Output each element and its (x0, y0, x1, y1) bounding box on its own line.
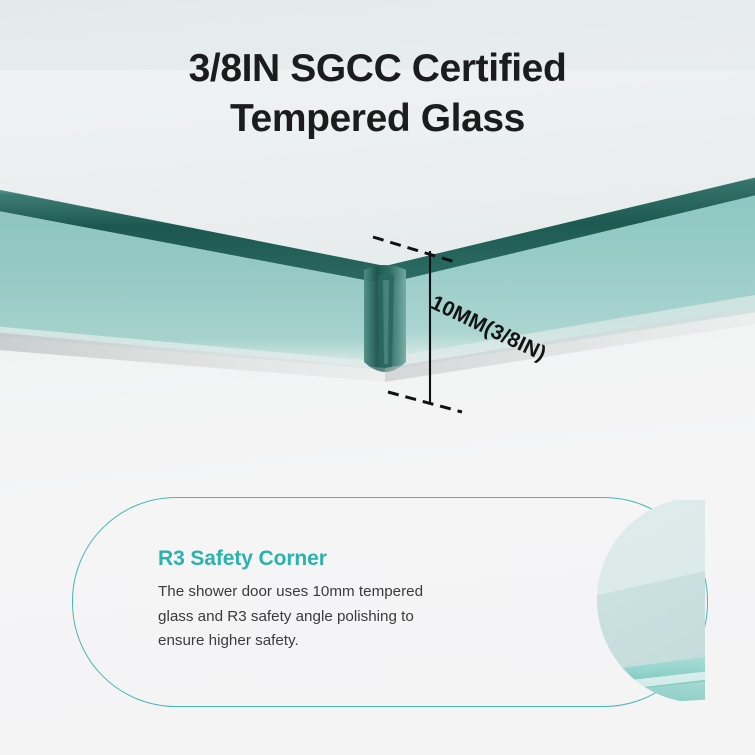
tempered-glass-panel-photo (0, 70, 755, 450)
r3-corner-photo (455, 500, 705, 702)
feature-card-body: The shower door uses 10mm tempered glass… (158, 580, 458, 654)
feature-card-text: R3 Safety Corner The shower door uses 10… (158, 547, 458, 654)
product-infographic: 3/8IN SGCC Certified Tempered Glass 10MM… (0, 0, 755, 755)
feature-card-heading: R3 Safety Corner (158, 547, 458, 571)
